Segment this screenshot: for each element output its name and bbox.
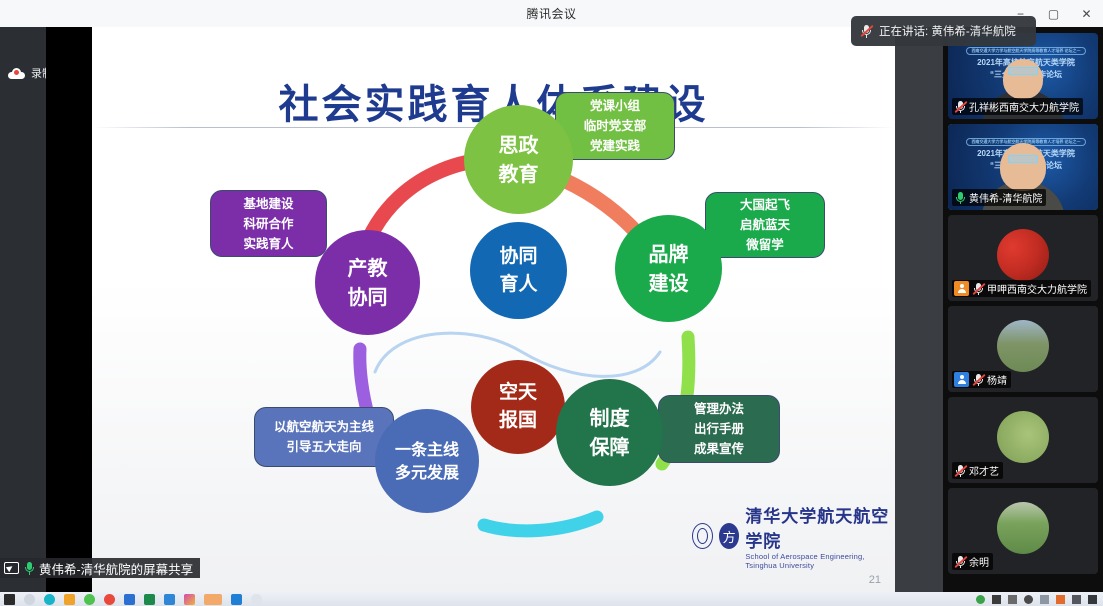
participant-namebar: 邓才艺 (952, 462, 1003, 479)
circle-xietong: 协同 育人 (470, 222, 567, 319)
participant-name: 黄伟希-清华航院 (969, 190, 1042, 205)
participant-name: 邓才艺 (969, 463, 999, 478)
university-seal-icon (692, 523, 713, 549)
circle-chanjiao: 产教 协同 (315, 230, 420, 335)
participant-namebar: 孔祥彬西南交大力航学院 (952, 98, 1083, 115)
participants-sidebar[interactable]: 西南交通大学力学与航空航天学院高等教育人才培养 论坛之一 2021年高校航空航天… (943, 27, 1103, 592)
search-icon[interactable] (24, 594, 35, 605)
circle-zhuxian: 一条主线 多元发展 (375, 409, 479, 513)
speaking-toast-label: 正在讲话: 黄伟希-清华航院 (879, 23, 1016, 39)
word-icon[interactable] (124, 594, 135, 605)
circle-kongtian: 空天 报国 (471, 360, 565, 454)
maximize-button[interactable]: ▢ (1037, 0, 1070, 27)
box-guanli: 管理办法 出行手册 成果宣传 (658, 395, 780, 463)
circle-line: 协同 (499, 243, 537, 271)
taskbar-tray (976, 595, 1103, 604)
avatar (997, 229, 1049, 281)
window-title: 腾讯会议 (526, 5, 576, 22)
box-line: 科研合作 (243, 214, 293, 234)
close-button[interactable]: ✕ (1070, 0, 1103, 27)
glasses-icon (1008, 67, 1038, 75)
circle-line: 育人 (499, 271, 537, 299)
box-line: 大国起飞 (740, 195, 790, 215)
participant-namebar: 杨靖 (952, 371, 1011, 388)
mic-muted-icon (954, 464, 966, 478)
participant-tile[interactable]: 邓才艺 (948, 397, 1098, 483)
participant-name: 甲呷西南交大力航学院 (987, 281, 1087, 296)
circle-line: 建设 (649, 269, 689, 298)
speaking-toast: 正在讲话: 黄伟希-清华航院 (851, 16, 1036, 46)
circle-line: 协同 (348, 283, 388, 312)
notification-icon[interactable] (1088, 595, 1097, 604)
mic-muted-icon (972, 373, 984, 387)
unknown-icon[interactable] (251, 594, 262, 605)
network-icon[interactable] (1008, 595, 1017, 604)
participant-namebar: 黄伟希-清华航院 (952, 189, 1046, 206)
box-dangke: 党课小组 临时党支部 党建实践 (555, 92, 675, 160)
box-line: 以航空航天为主线 (274, 417, 374, 437)
screen-share-owner: 黄伟希-清华航院的屏幕共享 (39, 559, 193, 578)
circle-sizheng: 思政 教育 (464, 105, 573, 214)
slide-page-number: 21 (869, 574, 881, 586)
avatar (997, 411, 1049, 463)
tencent-meeting-icon[interactable] (204, 594, 222, 605)
circle-line: 保障 (590, 433, 630, 462)
circle-line: 空天 (499, 379, 537, 407)
meeting-body: 录制中 社会实践育人体系建设 (0, 27, 1103, 592)
mic-muted-icon (860, 24, 872, 38)
mic-on-icon (954, 191, 966, 205)
box-jidi: 基地建设 科研合作 实践育人 (210, 190, 327, 257)
shared-screen-stage[interactable]: 社会实践育人体系建设 党课小组 临时党支部 (46, 27, 943, 592)
mic-muted-icon (972, 282, 984, 296)
circle-line: 一条主线 (395, 438, 459, 461)
ppt-icon[interactable] (164, 594, 175, 605)
box-line: 党建实践 (590, 136, 640, 156)
tsinghua-logo: 方 清华大学航天航空学院 School of Aerospace Enginee… (692, 502, 895, 570)
user-badge-icon (954, 372, 969, 387)
screen-share-icon (4, 562, 19, 574)
ime-icon[interactable] (1056, 595, 1065, 604)
logo-en-text: School of Aerospace Engineering, Tsinghu… (745, 552, 895, 570)
person-head (1000, 143, 1046, 191)
cloud-icon[interactable] (1040, 595, 1049, 604)
edge-icon[interactable] (44, 594, 55, 605)
participant-namebar: 余明 (952, 553, 993, 570)
participant-tile[interactable]: 甲呷西南交大力航学院 (948, 215, 1098, 301)
box-line: 基地建设 (243, 194, 293, 214)
box-line: 管理办法 (694, 399, 744, 419)
start-icon[interactable] (4, 594, 15, 605)
circle-line: 报国 (499, 407, 537, 435)
participant-tile[interactable]: 余明 (948, 488, 1098, 574)
circle-line: 教育 (499, 160, 539, 189)
battery-icon[interactable] (992, 595, 1001, 604)
excel-icon[interactable] (144, 594, 155, 605)
box-line: 出行手册 (694, 419, 744, 439)
display-icon[interactable] (1072, 595, 1081, 604)
box-line: 引导五大走向 (286, 437, 361, 457)
circle-line: 多元发展 (395, 461, 459, 484)
participant-name: 杨靖 (987, 372, 1007, 387)
mic-muted-icon (954, 100, 966, 114)
banner-top-line: 西南交通大学力学与航空航天学院高等教育人才培养 论坛之一 (966, 47, 1085, 55)
circle-pinpai: 品牌 建设 (615, 215, 722, 322)
person-head (1003, 59, 1043, 99)
circle-line: 思政 (499, 131, 539, 160)
box-line: 临时党支部 (584, 116, 647, 136)
upload-icon[interactable] (976, 595, 985, 604)
box-line: 启航蓝天 (740, 215, 790, 235)
circle-line: 品牌 (649, 240, 689, 269)
participant-tile-active-speaker[interactable]: 西南交通大学力学与航空航天学院高等教育人才培养 论坛之一 2021年高校航空航天… (948, 124, 1098, 210)
participant-name: 孔祥彬西南交大力航学院 (969, 99, 1079, 114)
glasses-icon (1008, 155, 1038, 163)
cloud-record-icon (8, 68, 25, 79)
app-root: 腾讯会议 − ▢ ✕ 录制中 社会实践育人体系建设 (0, 0, 1103, 606)
circle-zhidu: 制度 保障 (556, 379, 663, 486)
presentation-slide: 社会实践育人体系建设 党课小组 临时党支部 (92, 27, 895, 592)
school-emblem-icon: 方 (719, 523, 739, 549)
box-line: 成果宣传 (694, 439, 744, 459)
user-badge-icon (954, 281, 969, 296)
participant-name: 余明 (969, 554, 989, 569)
explorer-icon[interactable] (64, 594, 75, 605)
wechat-icon[interactable] (84, 594, 95, 605)
participant-namebar: 甲呷西南交大力航学院 (952, 280, 1091, 297)
mic-muted-icon (954, 555, 966, 569)
circle-line: 产教 (348, 254, 388, 283)
photos-icon[interactable] (184, 594, 195, 605)
circle-line: 制度 (590, 404, 630, 433)
box-line: 党课小组 (590, 96, 640, 116)
left-rail: 录制中 (0, 27, 46, 592)
screen-share-label: 黄伟希-清华航院的屏幕共享 (0, 558, 200, 578)
windows-taskbar[interactable] (0, 592, 1103, 606)
box-hangkong: 以航空航天为主线 引导五大走向 (254, 407, 394, 467)
avatar (997, 502, 1049, 554)
logo-cn-text: 清华大学航天航空学院 (745, 502, 895, 552)
participant-tile[interactable]: 杨靖 (948, 306, 1098, 392)
volume-icon[interactable] (1024, 595, 1033, 604)
avatar (997, 320, 1049, 372)
taskbar-icons (0, 594, 262, 605)
box-line: 微留学 (746, 235, 784, 255)
mic-on-icon (23, 561, 35, 575)
box-daguo: 大国起飞 启航蓝天 微留学 (705, 192, 825, 258)
box-line: 实践育人 (243, 234, 293, 254)
chrome-icon[interactable] (104, 594, 115, 605)
mail-icon[interactable] (231, 594, 242, 605)
